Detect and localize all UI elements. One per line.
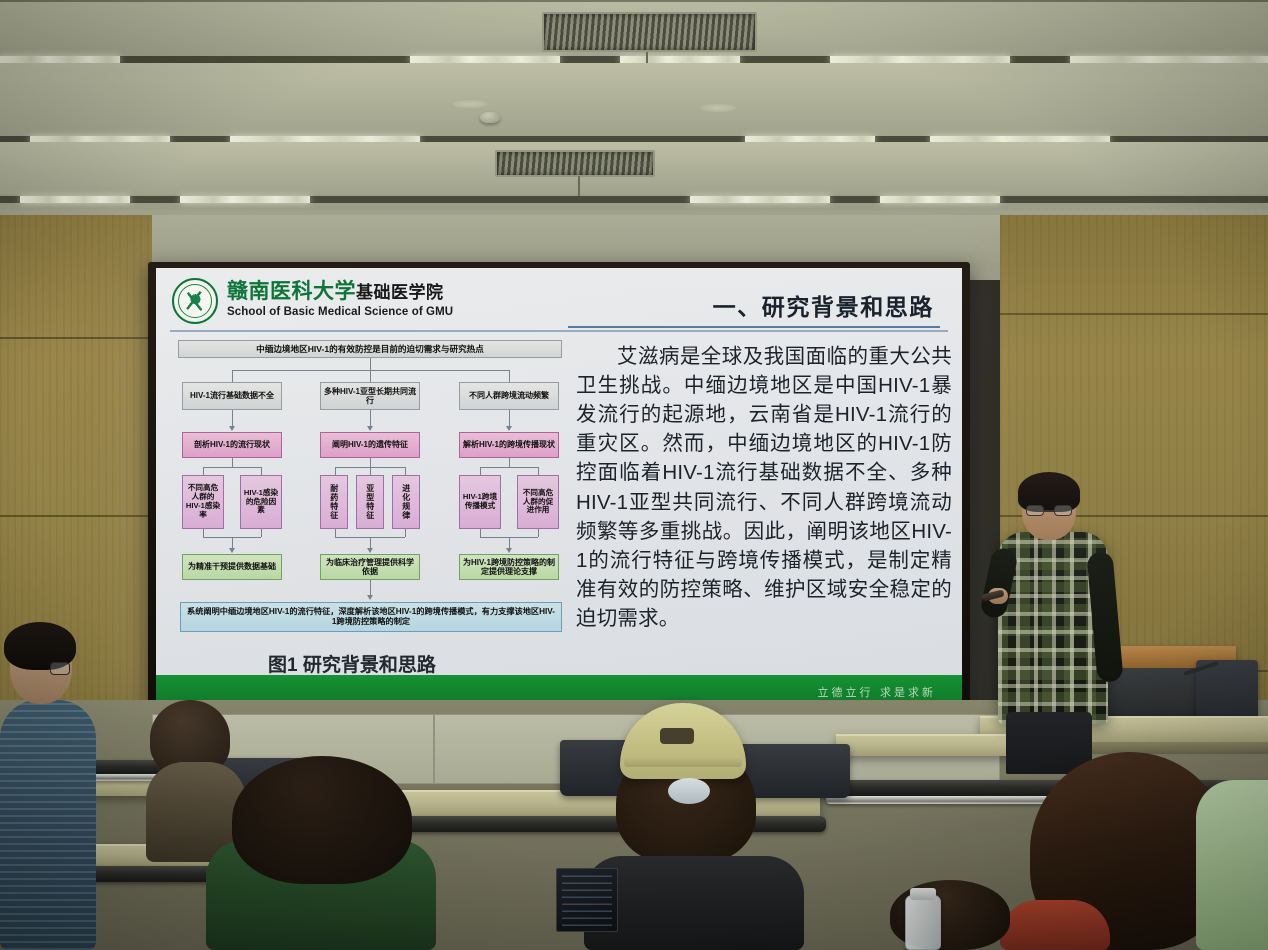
laptop-screen-content bbox=[562, 874, 612, 926]
flowchart-item-2-1: 耐药特征 bbox=[320, 475, 348, 529]
header-divider bbox=[170, 330, 948, 332]
department-name-cn: 基础医学院 bbox=[356, 283, 444, 302]
flowchart-problem-2: 多种HIV-1亚型长期共同流行 bbox=[320, 382, 420, 410]
flowchart-outcome-2: 为临床治疗管理提供科学依据 bbox=[320, 554, 420, 580]
flowchart-conclusion: 系统阐明中缅边境地区HIV-1的流行特征，深度解析该地区HIV-1的跨境传播模式… bbox=[180, 602, 562, 632]
flowchart-aim-2: 阐明HIV-1的遗传特征 bbox=[320, 432, 420, 458]
hvac-vent-icon bbox=[542, 12, 757, 52]
slide-header: 赣南医科大学基础医学院 School of Basic Medical Scie… bbox=[172, 278, 453, 324]
desk bbox=[836, 734, 1026, 756]
flowchart-item-3-2: 不同高危人群的促进作用 bbox=[517, 475, 559, 529]
flowchart-item-1-2: HIV-1感染的危险因素 bbox=[240, 475, 282, 529]
flowchart-problem-1: HIV-1流行基础数据不全 bbox=[182, 382, 282, 410]
gmu-seal-icon bbox=[172, 278, 218, 324]
flowchart-aim-3: 解析HIV-1的跨境传播现状 bbox=[459, 432, 559, 458]
slide-body-text: 艾滋病是全球及我国面临的重大公共卫生挑战。中缅边境地区是中国HIV-1暴发流行的… bbox=[576, 342, 952, 633]
presentation-slide: 赣南医科大学基础医学院 School of Basic Medical Scie… bbox=[156, 268, 962, 708]
cap-back-slot bbox=[660, 728, 694, 744]
flowchart-item-2-3: 进化规律 bbox=[392, 475, 420, 529]
title-divider bbox=[568, 326, 940, 328]
flowchart-header-box: 中缅边境地区HIV-1的有效防控是目前的迫切需求与研究热点 bbox=[178, 340, 562, 358]
desk-rail bbox=[396, 816, 826, 832]
flowchart-item-3-1: HIV-1跨境传播模式 bbox=[459, 475, 501, 529]
figure-caption: 图1 研究背景和思路 bbox=[268, 650, 436, 677]
institution-name-cn: 赣南医科大学基础医学院 bbox=[227, 280, 453, 301]
hair-scrunchie bbox=[668, 778, 710, 804]
flowchart-outcome-3: 为HIV-1跨境防控策略的制定提供理论支撑 bbox=[459, 554, 559, 580]
footer-motto: 立德立行 求是求新 bbox=[818, 684, 937, 700]
hvac-vent-icon bbox=[495, 150, 655, 177]
ceiling bbox=[0, 0, 1268, 215]
lecture-hall-photo: 赣南医科大学基础医学院 School of Basic Medical Scie… bbox=[0, 0, 1268, 950]
cap-strap bbox=[624, 756, 742, 767]
flowchart-problem-3: 不同人群跨境流动频繁 bbox=[459, 382, 559, 410]
water-bottle bbox=[905, 895, 941, 950]
flowchart-item-1-1: 不同高危人群的HIV-1感染率 bbox=[182, 475, 224, 529]
institution-name-en: School of Basic Medical Science of GMU bbox=[227, 306, 453, 318]
bottle-cap bbox=[910, 888, 936, 900]
flowchart-aim-1: 剖析HIV-1的流行现状 bbox=[182, 432, 282, 458]
body-paragraph: 艾滋病是全球及我国面临的重大公共卫生挑战。中缅边境地区是中国HIV-1暴发流行的… bbox=[576, 342, 952, 633]
research-flowchart: 中缅边境地区HIV-1的有效防控是目前的迫切需求与研究热点 HIV-1流行基础数… bbox=[170, 340, 570, 645]
flowchart-item-2-2: 亚型特征 bbox=[356, 475, 384, 529]
smoke-detector-icon bbox=[480, 112, 500, 123]
wall-strip bbox=[152, 215, 1000, 263]
eyeglasses-icon bbox=[50, 662, 70, 675]
eyeglasses-icon bbox=[1026, 505, 1072, 517]
flowchart-outcome-1: 为精准干预提供数据基础 bbox=[182, 554, 282, 580]
slide-section-title: 一、研究背景和思路 bbox=[713, 288, 934, 322]
